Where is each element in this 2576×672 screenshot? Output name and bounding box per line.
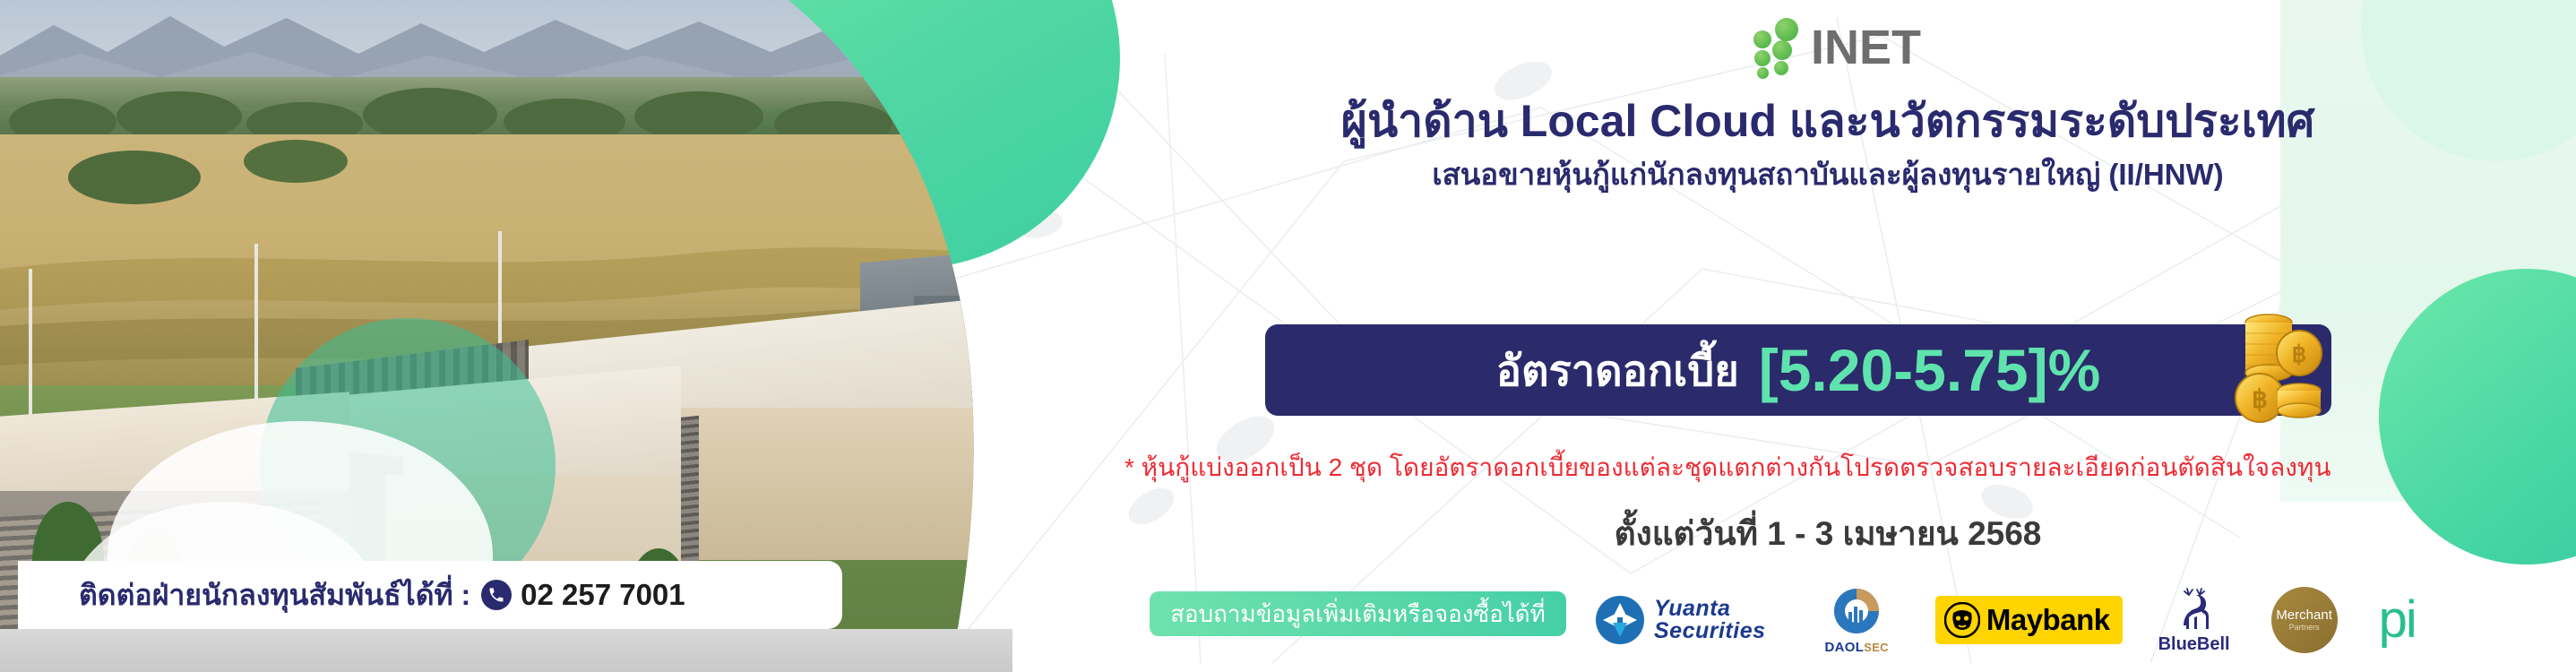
svg-text:฿: ฿ <box>2252 385 2268 413</box>
daol-text-sub: SEC <box>1864 641 1889 654</box>
svg-text:฿: ฿ <box>2292 340 2307 367</box>
phone-icon <box>481 580 512 610</box>
daol-text-main: DAOL <box>1825 640 1865 655</box>
contact-label: ติดต่อฝ่ายนักลงทุนสัมพันธ์ได้ที่ : <box>79 573 470 618</box>
promotional-banner: INET ผู้นำด้าน Local Cloud และนวัตกรรมระ… <box>0 0 2576 672</box>
broker-logo-pi[interactable]: pi <box>2379 597 2416 643</box>
contact-phone-number: 02 257 7001 <box>521 578 685 612</box>
broker-logo-maybank[interactable]: Maybank <box>1935 596 2123 644</box>
broker-logo-daol[interactable]: DAOLSEC <box>1825 585 1889 655</box>
utility-pole <box>254 244 258 414</box>
utility-pole <box>29 269 32 421</box>
merchant-line2: Partners <box>2289 624 2320 632</box>
broker-logo-merchant-partners[interactable]: Merchant Partners <box>2271 587 2338 653</box>
inet-logo-dots-icon <box>1752 16 1807 72</box>
yuanta-line2: Securities <box>1654 620 1766 642</box>
yuanta-star-icon <box>1595 595 1645 645</box>
interest-rate-label: อัตราดอกเบี้ย <box>1496 349 1739 392</box>
gold-coins-icon: ฿ ฿ <box>2206 301 2340 435</box>
bottom-grey-strip <box>0 629 1012 672</box>
maybank-wordmark: Maybank <box>1986 603 2110 637</box>
inquiry-cta-button[interactable]: สอบถามข้อมูลเพิ่มเติมหรือจองซื้อได้ที่ <box>1150 591 1566 636</box>
maybank-tiger-icon <box>1944 602 1980 638</box>
broker-logo-bluebell[interactable]: BlueBell <box>2158 586 2230 655</box>
offering-dates: ตั้งแต่วันที่ 1 - 3 เมษายน 2568 <box>1192 507 2464 560</box>
merchant-circle-icon: Merchant Partners <box>2271 587 2338 653</box>
inet-logo-text: INET <box>1811 23 1921 72</box>
bluebell-deer-icon <box>2174 586 2215 633</box>
bluebell-wordmark: BlueBell <box>2158 634 2230 655</box>
interest-rate-badge: อัตราดอกเบี้ย [5.20-5.75]% ฿ <box>1265 324 2331 416</box>
broker-logo-yuanta[interactable]: Yuanta Securities <box>1595 595 1766 645</box>
daol-pie-icon <box>1831 585 1882 637</box>
yuanta-line1: Yuanta <box>1654 598 1766 620</box>
investor-relations-contact-card: ติดต่อฝ่ายนักลงทุนสัมพันธ์ได้ที่ : 02 25… <box>18 561 842 629</box>
page-title: ผู้นำด้าน Local Cloud และนวัตกรรมระดับปร… <box>1192 86 2464 157</box>
pi-wordmark-icon: pi <box>2379 597 2416 643</box>
disclaimer-text: * หุ้นกู้แบ่งออกเป็น 2 ชุด โดยอัตราดอกเบ… <box>1124 448 2558 487</box>
daol-wordmark: DAOLSEC <box>1825 640 1889 655</box>
merchant-line1: Merchant <box>2276 608 2332 622</box>
page-subtitle: เสนอขายหุ้นกู้แก่นักลงทุนสถาบันและผู้ลงท… <box>1192 151 2464 198</box>
inet-logo[interactable]: INET <box>1752 16 1921 72</box>
yuanta-wordmark: Yuanta Securities <box>1654 598 1766 642</box>
broker-logo-row: Yuanta Securities DAOLSEC <box>1595 581 2545 659</box>
interest-rate-value: [5.20-5.75]% <box>1759 340 2101 400</box>
